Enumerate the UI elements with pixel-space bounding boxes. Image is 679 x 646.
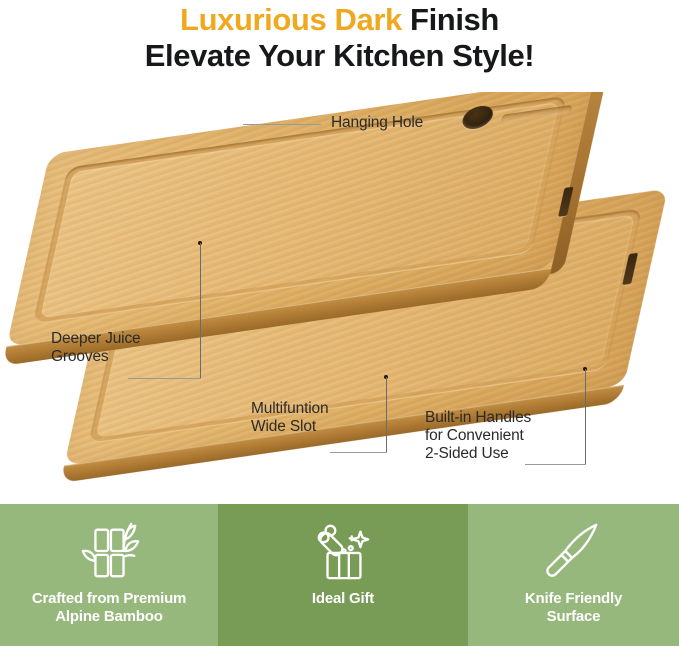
feature-crafted-from-premium-alpine-bamboo[interactable]: Crafted from Premium Alpine Bamboo	[0, 504, 218, 646]
leader-line-hanging-hole	[243, 124, 321, 125]
top-cutting-board	[28, 118, 573, 304]
leader-line-wide-slot	[386, 377, 387, 452]
feature-ideal-gift[interactable]: Ideal Gift	[218, 504, 468, 646]
headline-block: Luxurious Dark Finish Elevate Your Kitch…	[0, 0, 679, 73]
callout-deeper-juice-grooves: Deeper Juice Grooves	[51, 330, 141, 366]
knife-icon	[543, 518, 605, 584]
leader-line-handles-foot	[525, 464, 586, 465]
headline-line-2: Elevate Your Kitchen Style!	[0, 40, 679, 73]
callout-multifuntion-wide-slot: Multifuntion Wide Slot	[251, 400, 328, 436]
product-illustration	[0, 92, 679, 497]
bamboo-icon	[78, 518, 140, 584]
feature-label-gift: Ideal Gift	[312, 590, 374, 608]
feature-bar: Crafted from Premium Alpine Bamboo Ideal…	[0, 504, 679, 646]
callout-built-in-handles: Built-in Handles for Convenient 2-Sided …	[425, 409, 531, 463]
feature-knife-friendly-surface[interactable]: Knife Friendly Surface	[468, 504, 679, 646]
feature-label-knife: Knife Friendly Surface	[525, 590, 622, 626]
callout-hanging-hole: Hanging Hole	[331, 114, 423, 132]
feature-label-bamboo: Crafted from Premium Alpine Bamboo	[32, 590, 186, 626]
headline-line-1: Luxurious Dark Finish	[0, 4, 679, 37]
leader-line-juice-grooves-foot	[128, 378, 201, 379]
gift-icon	[312, 518, 374, 584]
headline-rest-text: Finish	[402, 2, 499, 37]
headline-accent-text: Luxurious Dark	[180, 2, 402, 37]
leader-line-wide-slot-foot	[330, 452, 387, 453]
leader-line-handles	[585, 369, 586, 464]
leader-line-juice-grooves	[200, 243, 201, 378]
